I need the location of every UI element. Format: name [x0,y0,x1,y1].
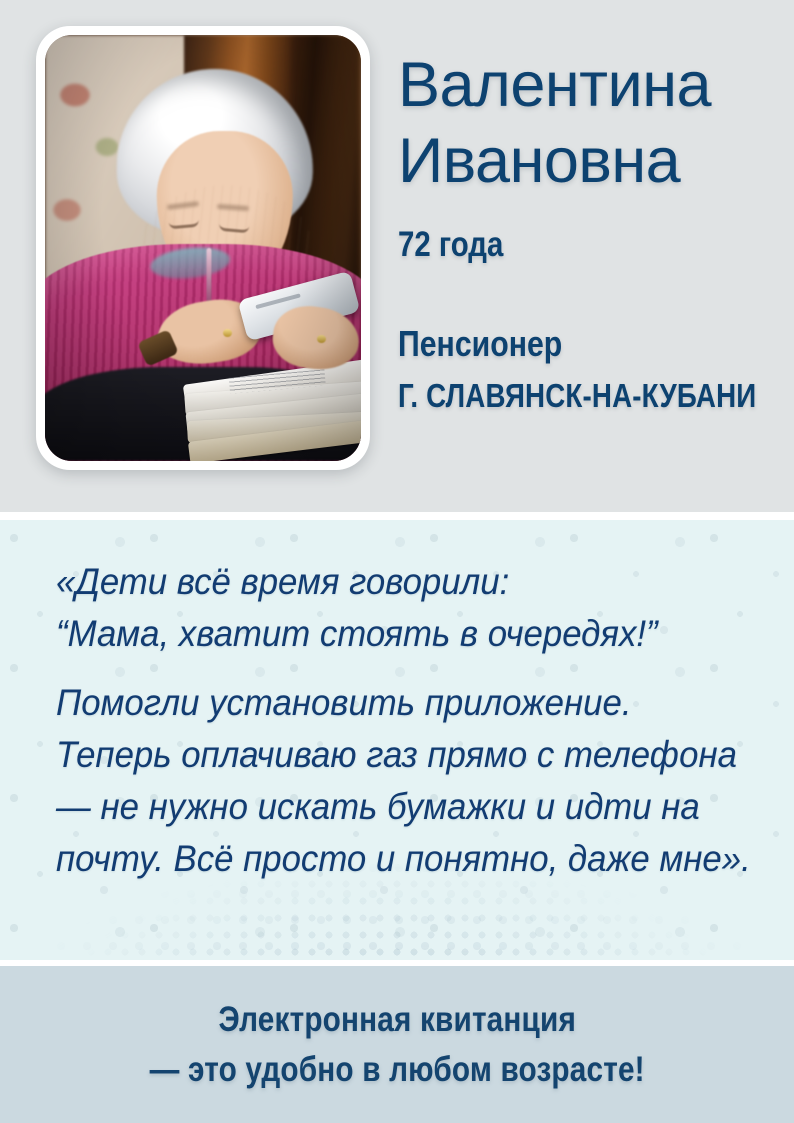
person-name-line-1: Валентина [398,48,770,124]
footer-headline-line-2: — это удобно в любом возрасте! [149,1045,644,1095]
quote-line: почту. Всё просто и понятно, даже мне». [56,833,705,885]
quote-line: Теперь оплачиваю газ прямо с телефона [56,729,705,781]
portrait-photo-frame [36,26,370,470]
testimonial-poster: Валентина Ивановна 72 года Пенсионер Г. … [0,0,794,1123]
quote-line: «Дети всё время говорили: [56,556,705,608]
person-city: Г. СЛАВЯНСК-НА-КУБАНИ [398,377,710,415]
person-details: Валентина Ивановна 72 года Пенсионер Г. … [398,48,770,415]
header-section: Валентина Ивановна 72 года Пенсионер Г. … [0,0,794,512]
divider-header-quote [0,512,794,520]
person-name-line-2: Ивановна [398,124,770,200]
testimonial-quote: «Дети всё время говорили: “Мама, хватит … [56,556,746,885]
quote-line: Помогли установить приложение. [56,677,705,729]
quote-line: “Мама, хватит стоять в очередях!” [56,608,705,660]
portrait-photo [45,35,361,461]
footer-section: Электронная квитанция — это удобно в люб… [0,966,794,1123]
person-age: 72 года [398,225,710,265]
person-role: Пенсионер [398,323,710,365]
quote-paragraph-gap [56,660,746,677]
footer-headline-line-1: Электронная квитанция [218,995,575,1045]
quote-line: — не нужно искать бумажки и идти на [56,781,705,833]
quote-section: «Дети всё время говорили: “Мама, хватит … [0,520,794,965]
photo-vignette [45,35,361,461]
